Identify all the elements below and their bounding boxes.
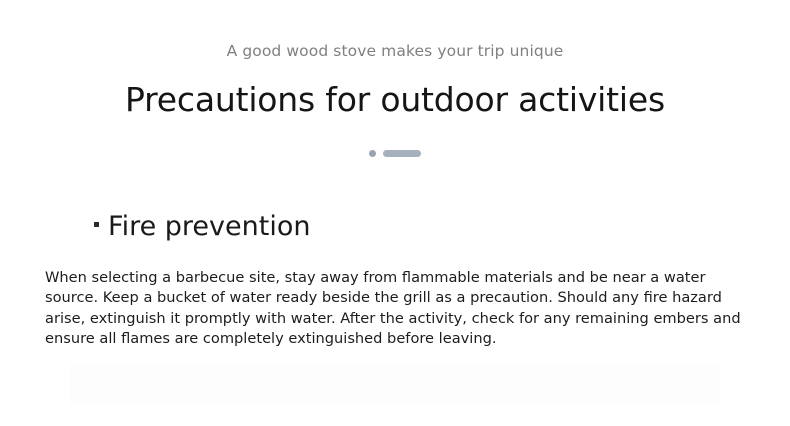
slide-canvas: A good wood stove makes your trip unique…	[0, 0, 790, 426]
section-body-paragraph: When selecting a barbecue site, stay awa…	[45, 268, 745, 350]
bullet-square-icon	[94, 222, 99, 227]
slide-title: Precautions for outdoor activities	[0, 78, 790, 122]
decorative-bottom-panel	[70, 362, 720, 406]
divider-bar-icon	[383, 150, 421, 157]
title-divider	[0, 148, 790, 158]
slide-eyebrow-text: A good wood stove makes your trip unique	[0, 40, 790, 62]
section-heading-label: Fire prevention	[108, 208, 310, 246]
divider-dot-icon	[369, 150, 376, 157]
section-heading: Fire prevention	[94, 208, 310, 246]
